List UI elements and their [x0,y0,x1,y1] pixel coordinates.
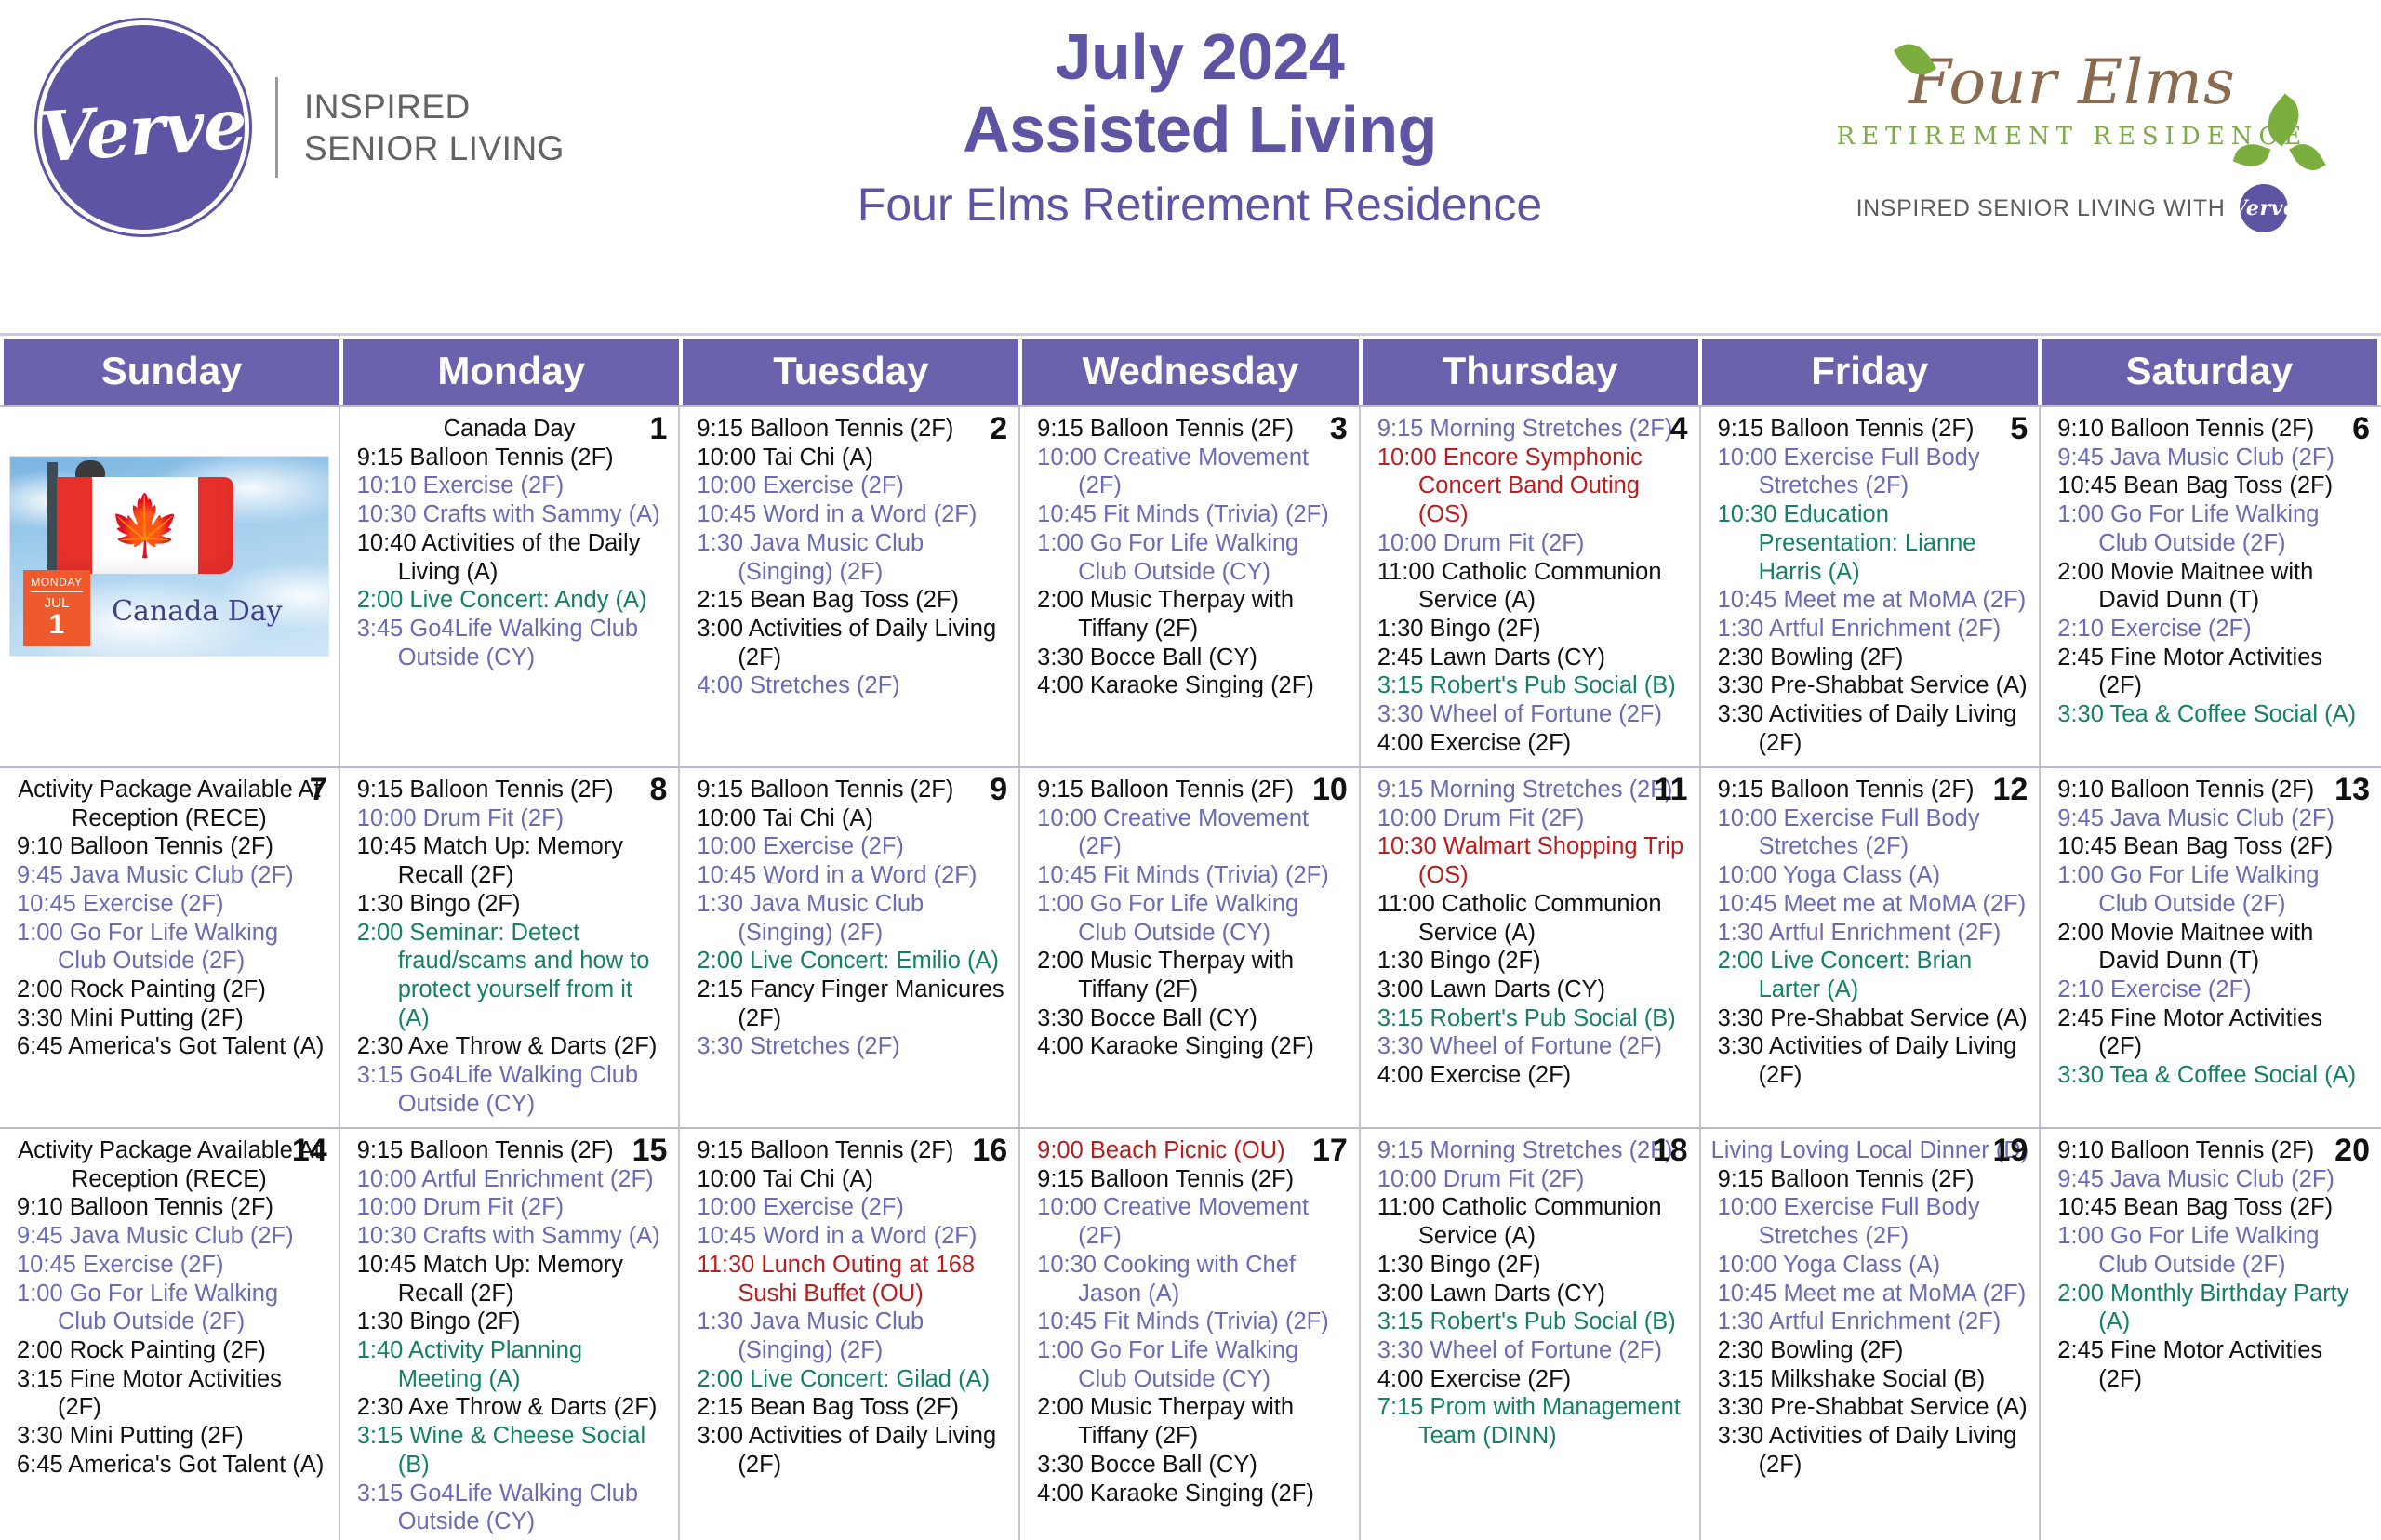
event-item[interactable]: 9:45 Java Music Club (2F) [2057,804,2372,833]
day-number: 16 [972,1135,1007,1166]
event-item[interactable]: 10:00 Drum Fit (2F) [357,1193,670,1222]
weekday-header-sunday: Sunday [4,339,339,405]
event-item[interactable]: 1:30 Java Music Club (Singing) (2F) [697,529,1009,586]
event-item[interactable]: 9:45 Java Music Club (2F) [2057,444,2372,472]
event-item[interactable]: 3:15 Milkshake Social (B) [1718,1365,2030,1394]
event-item[interactable]: 1:00 Go For Life Walking Club Outside (2… [2057,1222,2372,1279]
event-item[interactable]: 10:00 Yoga Class (A) [1718,1251,2030,1280]
event-item[interactable]: 2:00 Music Therpay with Tiffany (2F) [1037,947,1350,1003]
event-item[interactable]: 9:15 Morning Stretches (2F) [1377,1136,1690,1165]
day-cell-13[interactable]: 139:10 Balloon Tennis (2F)9:45 Java Musi… [2041,768,2381,1127]
day-cell-15[interactable]: 159:15 Balloon Tennis (2F)10:00 Artful E… [340,1129,681,1540]
event-item[interactable]: 1:00 Go For Life Walking Club Outside (2… [17,1280,329,1336]
event-item[interactable]: 1:30 Bingo (2F) [357,890,670,919]
event-item[interactable]: 10:45 Match Up: Memory Recall (2F) [357,832,670,889]
event-list: 9:00 Beach Picnic (OU)9:15 Balloon Tenni… [1030,1136,1350,1507]
promo-label: Canada Day [10,595,328,628]
event-item[interactable]: 2:00 Rock Painting (2F) [17,1336,329,1365]
weekday-header-saturday: Saturday [2042,339,2377,405]
day-cell-19[interactable]: 19Living Loving Local Dinner (D)9:15 Bal… [1701,1129,2042,1540]
weekday-header-tuesday: Tuesday [683,339,1018,405]
event-item[interactable]: 1:40 Activity Planning Meeting (A) [357,1336,670,1393]
event-item[interactable]: 3:30 Bocce Ball (CY) [1037,1451,1350,1480]
event-item[interactable]: 10:45 Fit Minds (Trivia) (2F) [1037,1308,1350,1336]
event-item[interactable]: 1:30 Java Music Club (Singing) (2F) [697,890,1009,947]
event-item[interactable]: 2:45 Fine Motor Activities (2F) [2057,1336,2372,1393]
event-item[interactable]: 10:00 Creative Movement (2F) [1037,444,1350,500]
event-item[interactable]: 9:10 Balloon Tennis (2F) [17,832,329,861]
event-item[interactable]: 2:00 Seminar: Detect fraud/scams and how… [357,919,670,1033]
event-item[interactable]: 3:15 Robert's Pub Social (B) [1377,1004,1690,1033]
event-item[interactable]: 2:00 Monthly Birthday Party (A) [2057,1280,2372,1336]
event-item[interactable]: 9:15 Balloon Tennis (2F) [1718,776,2030,804]
event-item[interactable]: 3:30 Activities of Daily Living (2F) [1718,1032,2030,1089]
event-item[interactable]: 11:00 Catholic Communion Service (A) [1377,1193,1690,1250]
event-list: 9:15 Morning Stretches (2F)10:00 Encore … [1370,415,1690,758]
event-item[interactable]: 3:30 Pre-Shabbat Service (A) [1718,1393,2030,1422]
event-item[interactable]: 2:30 Axe Throw & Darts (2F) [357,1393,670,1422]
event-item[interactable]: 6:45 America's Got Talent (A) [17,1032,329,1061]
page-title: July 2024 Assisted Living Four Elms Reti… [614,7,1786,237]
four-elms-tagline-text: INSPIRED SENIOR LIVING WITH [1856,195,2226,222]
event-item[interactable]: 1:00 Go For Life Walking Club Outside (2… [17,919,329,976]
event-item[interactable]: 9:15 Balloon Tennis (2F) [697,1136,1009,1165]
event-item[interactable]: 2:00 Movie Maitnee with David Dunn (T) [2057,919,2372,976]
event-list: 9:10 Balloon Tennis (2F)9:45 Java Music … [2050,1136,2372,1393]
event-item[interactable]: 9:15 Balloon Tennis (2F) [697,776,1009,804]
event-item[interactable]: 9:15 Balloon Tennis (2F) [1718,415,2030,444]
event-item[interactable]: 10:45 Match Up: Memory Recall (2F) [357,1251,670,1308]
event-item[interactable]: 10:00 Drum Fit (2F) [357,804,670,833]
day-number: 20 [2334,1135,2370,1166]
day-number: 19 [1992,1135,2028,1166]
day-number: 9 [990,774,1007,805]
event-item[interactable]: 10:00 Exercise (2F) [697,832,1009,861]
day-cell-14[interactable]: 14Activity Package Available At Receptio… [0,1129,340,1540]
event-item[interactable]: 10:30 Education Presentation: Lianne Har… [1718,500,2030,586]
event-item[interactable]: 2:00 Live Concert: Gilad (A) [697,1365,1009,1394]
event-item[interactable]: 9:15 Balloon Tennis (2F) [1037,415,1350,444]
event-item[interactable]: 2:00 Music Therpay with Tiffany (2F) [1037,1393,1350,1450]
event-item[interactable]: 10:30 Crafts with Sammy (A) [357,500,670,529]
event-item[interactable]: 10:45 Fit Minds (Trivia) (2F) [1037,500,1350,529]
day-cell-7[interactable]: 7Activity Package Available At Reception… [0,768,340,1127]
event-item[interactable]: 1:00 Go For Life Walking Club Outside (2… [2057,861,2372,918]
event-item[interactable]: 1:00 Go For Life Walking Club Outside (C… [1037,890,1350,947]
event-item[interactable]: 10:45 Bean Bag Toss (2F) [2057,1193,2372,1222]
event-item[interactable]: 10:00 Drum Fit (2F) [1377,804,1690,833]
event-list: Activity Package Available At Reception … [9,776,329,1061]
event-item[interactable]: 4:00 Exercise (2F) [1377,1365,1690,1394]
event-list: 9:15 Morning Stretches (2F)10:00 Drum Fi… [1370,1136,1690,1451]
day-number: 7 [310,774,327,805]
event-item[interactable]: 10:40 Activities of the Daily Living (A) [357,529,670,586]
event-item[interactable]: 9:00 Beach Picnic (OU) [1037,1136,1350,1165]
event-list: Living Loving Local Dinner (D)9:15 Ballo… [1710,1136,2030,1480]
event-item[interactable]: 2:30 Bowling (2F) [1718,644,2030,672]
event-item[interactable]: 9:10 Balloon Tennis (2F) [2057,415,2372,444]
event-item[interactable]: Activity Package Available At Reception … [9,776,329,832]
verve-logo: Verve INSPIRED SENIOR LIVING [0,7,614,234]
event-item[interactable]: 9:45 Java Music Club (2F) [17,1222,329,1251]
logo-divider [275,77,278,178]
event-item[interactable]: 10:45 Meet me at MoMA (2F) [1718,586,2030,615]
day-cell-2[interactable]: 29:15 Balloon Tennis (2F)10:00 Tai Chi (… [680,407,1020,766]
event-item[interactable]: Activity Package Available At Reception … [9,1136,329,1193]
event-item[interactable]: 3:15 Go4Life Walking Club Outside (CY) [357,1480,670,1536]
event-item[interactable]: 4:00 Karaoke Singing (2F) [1037,1032,1350,1061]
event-item[interactable]: 10:45 Word in a Word (2F) [697,861,1009,890]
event-item[interactable]: 3:15 Fine Motor Activities (2F) [17,1365,329,1422]
event-item[interactable]: 4:00 Exercise (2F) [1377,729,1690,758]
day-number: 14 [292,1135,327,1166]
event-item[interactable]: 11:30 Lunch Outing at 168 Sushi Buffet (… [697,1251,1009,1308]
event-item[interactable]: 10:00 Exercise (2F) [697,471,1009,500]
event-item[interactable]: 3:30 Bocce Ball (CY) [1037,644,1350,672]
event-item[interactable]: 10:30 Crafts with Sammy (A) [357,1222,670,1251]
day-cell-3[interactable]: 39:15 Balloon Tennis (2F)10:00 Creative … [1020,407,1361,766]
event-item[interactable]: 2:00 Movie Maitnee with David Dunn (T) [2057,558,2372,615]
day-number: 8 [650,774,668,805]
day-number: 15 [632,1135,668,1166]
event-item[interactable]: 3:00 Activities of Daily Living (2F) [697,1422,1009,1479]
event-list: 9:15 Balloon Tennis (2F)10:00 Artful Enr… [350,1136,670,1536]
day-cell-12[interactable]: 129:15 Balloon Tennis (2F)10:00 Exercise… [1701,768,2042,1127]
event-item[interactable]: 2:00 Music Therpay with Tiffany (2F) [1037,586,1350,643]
event-item[interactable]: 10:00 Tai Chi (A) [697,804,1009,833]
day-number: 5 [2010,413,2028,445]
event-item[interactable]: 2:45 Lawn Darts (CY) [1377,644,1690,672]
event-list: 9:15 Balloon Tennis (2F)10:00 Creative M… [1030,776,1350,1061]
day-cell-16[interactable]: 169:15 Balloon Tennis (2F)10:00 Tai Chi … [680,1129,1020,1540]
event-item[interactable]: 9:10 Balloon Tennis (2F) [17,1193,329,1222]
four-elms-wordmark: Four Elms [1821,32,2323,113]
event-item[interactable]: 10:00 Drum Fit (2F) [1377,1165,1690,1194]
event-item[interactable]: 3:00 Lawn Darts (CY) [1377,1280,1690,1308]
event-item[interactable]: 2:45 Fine Motor Activities (2F) [2057,1004,2372,1061]
event-item[interactable]: 2:00 Live Concert: Brian Larter (A) [1718,947,2030,1003]
verve-tagline: INSPIRED SENIOR LIVING [304,86,565,169]
event-list: 9:15 Balloon Tennis (2F)10:00 Tai Chi (A… [689,415,1009,700]
event-item[interactable]: 3:30 Wheel of Fortune (2F) [1377,700,1690,729]
event-item[interactable]: 9:15 Balloon Tennis (2F) [357,444,670,472]
verve-tagline-line2: SENIOR LIVING [304,127,565,169]
event-item[interactable]: 3:30 Mini Putting (2F) [17,1422,329,1451]
event-list: Activity Package Available At Reception … [9,1136,329,1480]
calendar-page: Verve INSPIRED SENIOR LIVING July 2024 A… [0,0,2381,1540]
day-cell-10[interactable]: 109:15 Balloon Tennis (2F)10:00 Creative… [1020,768,1361,1127]
event-item[interactable]: 4:00 Karaoke Singing (2F) [1037,671,1350,700]
day-number: 17 [1312,1135,1348,1166]
event-item[interactable]: 10:00 Creative Movement (2F) [1037,804,1350,861]
four-elms-tagline: INSPIRED SENIOR LIVING WITH Verve [1856,184,2289,232]
event-item[interactable]: 3:00 Lawn Darts (CY) [1377,976,1690,1004]
event-item[interactable]: 9:15 Balloon Tennis (2F) [357,1136,670,1165]
event-item[interactable]: 3:15 Go4Life Walking Club Outside (CY) [357,1061,670,1118]
event-item[interactable]: 10:00 Yoga Class (A) [1718,861,2030,890]
four-elms-logo: Four Elms RETIREMENT RESIDENCE INSPIRED … [1786,7,2381,232]
event-list: 9:15 Balloon Tennis (2F)10:00 Tai Chi (A… [689,776,1009,1061]
verve-tagline-line1: INSPIRED [304,86,565,127]
day-number: 10 [1312,774,1348,805]
event-item[interactable]: 4:00 Stretches (2F) [697,671,1009,700]
event-item[interactable]: 1:00 Go For Life Walking Club Outside (C… [1037,1336,1350,1393]
event-list: 9:15 Balloon Tennis (2F)10:00 Exercise F… [1710,415,2030,758]
event-item[interactable]: 2:15 Fancy Finger Manicures (2F) [697,976,1009,1032]
event-item[interactable]: 9:10 Balloon Tennis (2F) [2057,776,2372,804]
calendar-grid: SundayMondayTuesdayWednesdayThursdayFrid… [0,333,2381,1540]
event-item[interactable]: 3:30 Pre-Shabbat Service (A) [1718,1004,2030,1033]
verve-badge-icon: Verve [37,20,249,234]
event-item[interactable]: 1:00 Go For Life Walking Club Outside (C… [1037,529,1350,586]
event-item[interactable]: 3:30 Mini Putting (2F) [17,1004,329,1033]
event-item[interactable]: 10:45 Exercise (2F) [17,890,329,919]
event-item[interactable]: 2:30 Bowling (2F) [1718,1336,2030,1365]
event-item[interactable]: 10:45 Meet me at MoMA (2F) [1718,890,2030,919]
event-item[interactable]: 1:30 Java Music Club (Singing) (2F) [697,1308,1009,1364]
event-item[interactable]: 1:30 Artful Enrichment (2F) [1718,615,2030,644]
day-cell-17[interactable]: 179:00 Beach Picnic (OU)9:15 Balloon Ten… [1020,1129,1361,1540]
day-cell-18[interactable]: 189:15 Morning Stretches (2F)10:00 Drum … [1361,1129,1701,1540]
day-number: 11 [1655,774,1688,805]
event-item[interactable]: 4:00 Karaoke Singing (2F) [1037,1480,1350,1508]
day-number: 12 [1992,774,2028,805]
event-item[interactable]: 10:45 Exercise (2F) [17,1251,329,1280]
event-item[interactable]: 10:00 Artful Enrichment (2F) [357,1165,670,1194]
event-item[interactable]: 2:10 Exercise (2F) [2057,615,2372,644]
day-cell-5[interactable]: 59:15 Balloon Tennis (2F)10:00 Exercise … [1701,407,2042,766]
event-item[interactable]: 6:45 America's Got Talent (A) [17,1451,329,1480]
weekday-header-row: SundayMondayTuesdayWednesdayThursdayFrid… [0,336,2381,405]
event-item[interactable]: 3:15 Robert's Pub Social (B) [1377,671,1690,700]
event-item[interactable]: 11:00 Catholic Communion Service (A) [1377,890,1690,947]
calendar-weeks: 🍁MONDAYJUL1Canada Day1Canada Day9:15 Bal… [0,405,2381,1540]
event-item[interactable]: 9:15 Balloon Tennis (2F) [1037,776,1350,804]
event-item[interactable]: 3:00 Activities of Daily Living (2F) [697,615,1009,671]
event-item[interactable]: Living Loving Local Dinner (D) [1710,1136,2030,1165]
event-item[interactable]: 10:00 Creative Movement (2F) [1037,1193,1350,1250]
event-item[interactable]: Canada Day [350,415,670,444]
event-item[interactable]: 9:15 Morning Stretches (2F) [1377,415,1690,444]
event-item[interactable]: 10:00 Encore Symphonic Concert Band Outi… [1377,444,1690,529]
event-item[interactable]: 3:30 Tea & Coffee Social (A) [2057,1061,2372,1090]
event-item[interactable]: 3:30 Bocce Ball (CY) [1037,1004,1350,1033]
weekday-header-thursday: Thursday [1363,339,1698,405]
event-item[interactable]: 10:00 Exercise Full Body Stretches (2F) [1718,1193,2030,1250]
day-cell-8[interactable]: 89:15 Balloon Tennis (2F)10:00 Drum Fit … [340,768,681,1127]
event-list: 9:15 Balloon Tennis (2F)10:00 Creative M… [1030,415,1350,700]
canada-day-promo: 🍁MONDAYJUL1Canada Day [9,456,329,657]
day-cell-11[interactable]: 119:15 Morning Stretches (2F)10:00 Drum … [1361,768,1701,1127]
event-item[interactable]: 3:30 Pre-Shabbat Service (A) [1718,671,2030,700]
event-item[interactable]: 1:30 Artful Enrichment (2F) [1718,1308,2030,1336]
event-item[interactable]: 10:45 Fit Minds (Trivia) (2F) [1037,861,1350,890]
weekday-header-monday: Monday [343,339,679,405]
day-cell-4[interactable]: 49:15 Morning Stretches (2F)10:00 Encore… [1361,407,1701,766]
event-item[interactable]: 3:30 Stretches (2F) [697,1032,1009,1061]
event-item[interactable]: 3:45 Go4Life Walking Club Outside (CY) [357,615,670,671]
event-item[interactable]: 2:30 Axe Throw & Darts (2F) [357,1032,670,1061]
title-residence: Four Elms Retirement Residence [614,172,1786,237]
event-item[interactable]: 9:15 Balloon Tennis (2F) [1037,1165,1350,1194]
event-item[interactable]: 10:10 Exercise (2F) [357,471,670,500]
event-item[interactable]: 2:15 Bean Bag Toss (2F) [697,1393,1009,1422]
event-item[interactable]: 10:45 Word in a Word (2F) [697,500,1009,529]
day-cell-20[interactable]: 209:10 Balloon Tennis (2F)9:45 Java Musi… [2041,1129,2381,1540]
day-number: 1 [650,413,668,445]
event-item[interactable]: 10:00 Tai Chi (A) [697,1165,1009,1194]
event-item[interactable]: 2:00 Live Concert: Emilio (A) [697,947,1009,976]
event-item[interactable]: 9:15 Balloon Tennis (2F) [697,415,1009,444]
day-cell-1[interactable]: 1Canada Day9:15 Balloon Tennis (2F)10:10… [340,407,681,766]
calendar-week-row: 14Activity Package Available At Receptio… [0,1127,2381,1540]
event-item[interactable]: 10:30 Walmart Shopping Trip (OS) [1377,832,1690,889]
promo-weekday: MONDAY [31,576,83,592]
verve-wordmark: Verve [37,84,248,178]
event-item[interactable]: 2:15 Bean Bag Toss (2F) [697,586,1009,615]
event-item[interactable]: 9:15 Morning Stretches (2F) [1377,776,1690,804]
day-number: 4 [1670,413,1688,445]
event-item[interactable]: 1:30 Bingo (2F) [1377,1251,1690,1280]
event-item[interactable]: 9:45 Java Music Club (2F) [17,861,329,890]
day-cell-6[interactable]: 69:10 Balloon Tennis (2F)9:45 Java Music… [2041,407,2381,766]
weekday-header-wednesday: Wednesday [1022,339,1358,405]
event-item[interactable]: 4:00 Exercise (2F) [1377,1061,1690,1090]
calendar-week-row: 7Activity Package Available At Reception… [0,766,2381,1127]
event-item[interactable]: 9:10 Balloon Tennis (2F) [2057,1136,2372,1165]
event-item[interactable]: 1:00 Go For Life Walking Club Outside (2… [2057,500,2372,557]
event-item[interactable]: 10:45 Meet me at MoMA (2F) [1718,1280,2030,1308]
event-item[interactable]: 10:45 Bean Bag Toss (2F) [2057,471,2372,500]
event-item[interactable]: 10:00 Drum Fit (2F) [1377,529,1690,558]
event-item[interactable]: 9:15 Balloon Tennis (2F) [357,776,670,804]
event-item[interactable]: 2:45 Fine Motor Activities (2F) [2057,644,2372,700]
title-program: Assisted Living [614,93,1786,166]
canada-flag-icon: 🍁 [57,477,233,574]
event-list: 9:15 Morning Stretches (2F)10:00 Drum Fi… [1370,776,1690,1090]
event-item[interactable]: 3:30 Wheel of Fortune (2F) [1377,1336,1690,1365]
event-item[interactable]: 7:15 Prom with Management Team (DINN) [1377,1393,1690,1450]
verve-underline-decoration [48,272,164,285]
event-item[interactable]: 10:00 Exercise Full Body Stretches (2F) [1718,804,2030,861]
event-item[interactable]: 2:00 Live Concert: Andy (A) [357,586,670,615]
event-item[interactable]: 1:30 Artful Enrichment (2F) [1718,919,2030,948]
day-number: 2 [990,413,1007,445]
event-item[interactable]: 3:30 Activities of Daily Living (2F) [1718,700,2030,757]
event-list: 9:10 Balloon Tennis (2F)9:45 Java Music … [2050,415,2372,729]
event-item[interactable]: 10:00 Exercise (2F) [697,1193,1009,1222]
event-item[interactable]: 10:00 Tai Chi (A) [697,444,1009,472]
weekday-header-friday: Friday [1702,339,2038,405]
event-item[interactable]: 2:10 Exercise (2F) [2057,976,2372,1004]
verve-mini-badge-icon: Verve [2240,184,2288,232]
day-number: 6 [2352,413,2370,445]
event-item[interactable]: 3:30 Wheel of Fortune (2F) [1377,1032,1690,1061]
event-item[interactable]: 2:00 Rock Painting (2F) [17,976,329,1004]
event-item[interactable]: 1:30 Bingo (2F) [1377,947,1690,976]
event-item[interactable]: 9:15 Balloon Tennis (2F) [1718,1165,2030,1194]
event-item[interactable]: 3:15 Wine & Cheese Social (B) [357,1422,670,1479]
event-list: 9:15 Balloon Tennis (2F)10:00 Tai Chi (A… [689,1136,1009,1480]
event-list: 9:10 Balloon Tennis (2F)9:45 Java Music … [2050,776,2372,1090]
day-cell-9[interactable]: 99:15 Balloon Tennis (2F)10:00 Tai Chi (… [680,768,1020,1127]
event-list: 9:15 Balloon Tennis (2F)10:00 Exercise F… [1710,776,2030,1090]
event-item[interactable]: 10:30 Cooking with Chef Jason (A) [1037,1251,1350,1308]
event-list: Canada Day9:15 Balloon Tennis (2F)10:10 … [350,415,670,671]
event-item[interactable]: 1:30 Bingo (2F) [357,1308,670,1336]
event-item[interactable]: 10:45 Word in a Word (2F) [697,1222,1009,1251]
page-header: Verve INSPIRED SENIOR LIVING July 2024 A… [0,0,2381,333]
event-list: 9:15 Balloon Tennis (2F)10:00 Drum Fit (… [350,776,670,1119]
day-number: 13 [2334,774,2370,805]
day-number: 18 [1653,1135,1688,1166]
event-item[interactable]: 3:15 Robert's Pub Social (B) [1377,1308,1690,1336]
day-number: 3 [1330,413,1348,445]
calendar-week-row: 🍁MONDAYJUL1Canada Day1Canada Day9:15 Bal… [0,405,2381,766]
event-item[interactable]: 10:00 Exercise Full Body Stretches (2F) [1718,444,2030,500]
event-item[interactable]: 10:45 Bean Bag Toss (2F) [2057,832,2372,861]
event-item[interactable]: 1:30 Bingo (2F) [1377,615,1690,644]
event-item[interactable]: 9:45 Java Music Club (2F) [2057,1165,2372,1194]
day-cell-empty[interactable]: 🍁MONDAYJUL1Canada Day [0,407,340,766]
event-item[interactable]: 3:30 Activities of Daily Living (2F) [1718,1422,2030,1479]
event-item[interactable]: 3:30 Tea & Coffee Social (A) [2057,700,2372,729]
title-month-year: July 2024 [614,20,1786,93]
event-item[interactable]: 11:00 Catholic Communion Service (A) [1377,558,1690,615]
